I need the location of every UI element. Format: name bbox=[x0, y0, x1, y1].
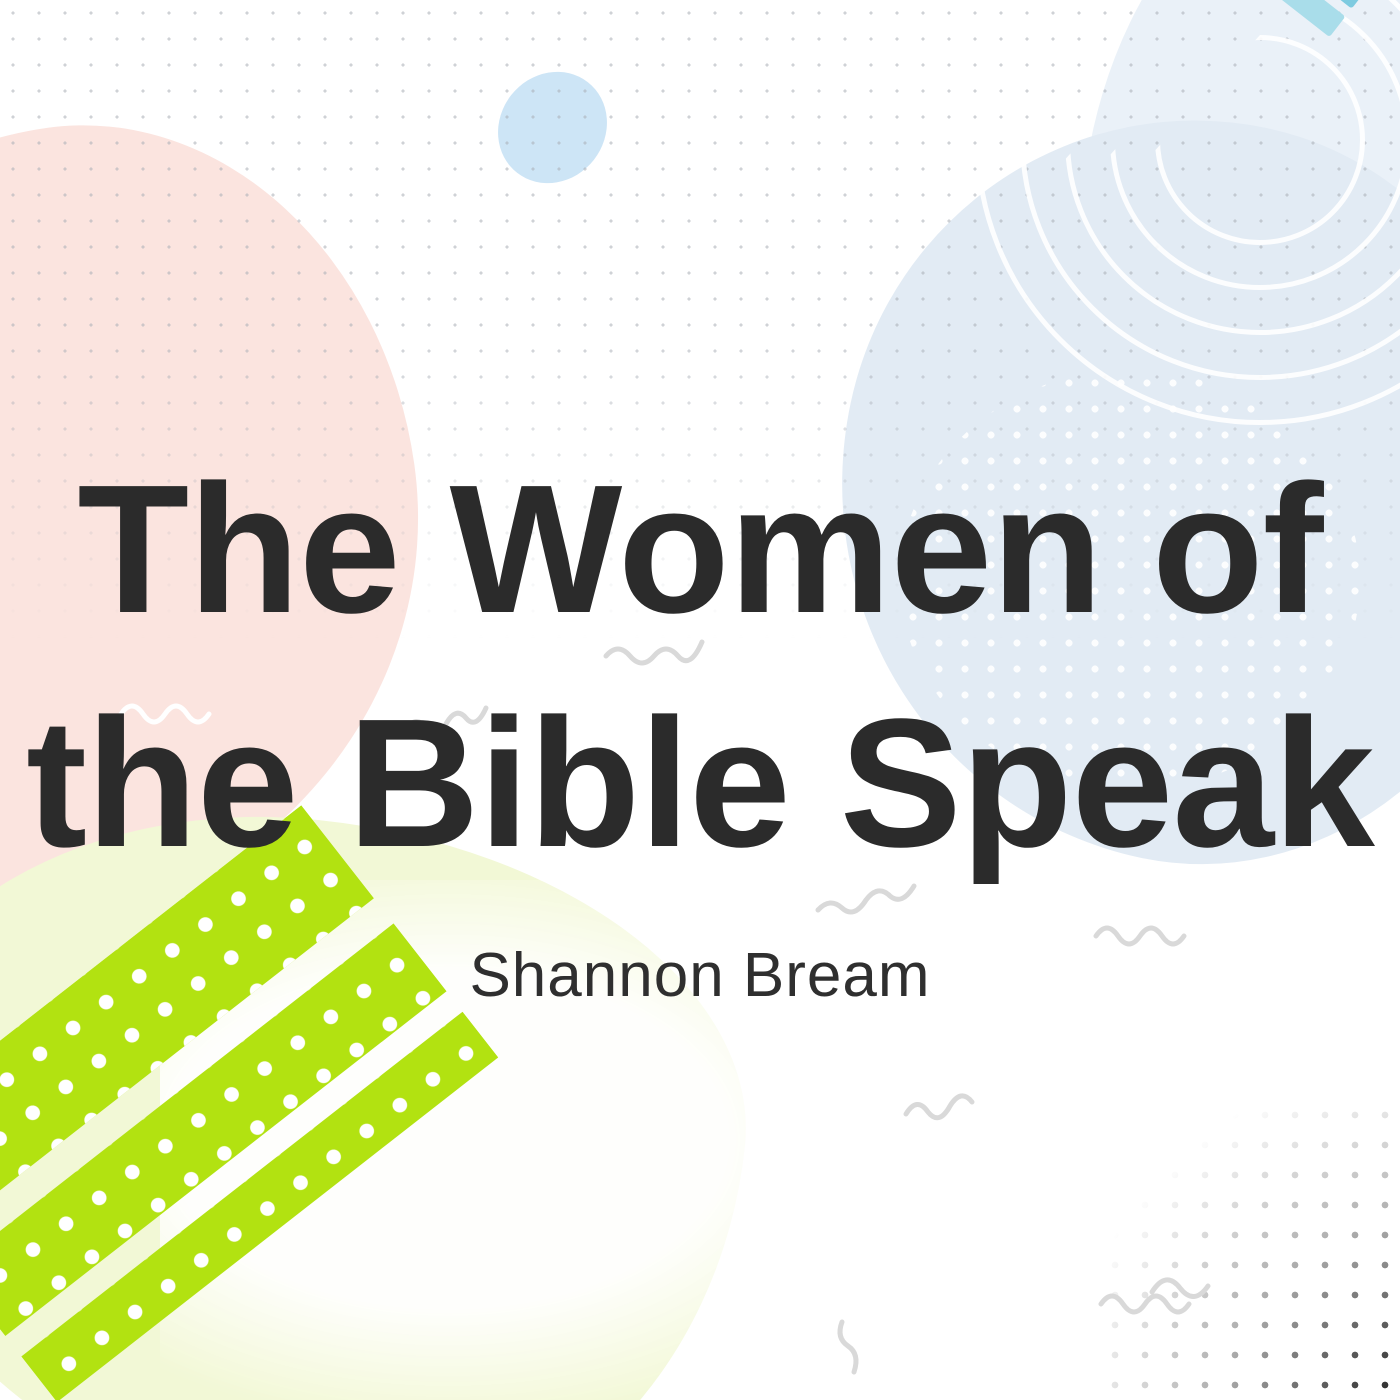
book-title: The Women of the Bible Speak bbox=[0, 432, 1400, 900]
cover-text-layer: The Women of the Bible Speak Shannon Bre… bbox=[0, 0, 1400, 1400]
book-cover: The Women of the Bible Speak Shannon Bre… bbox=[0, 0, 1400, 1400]
book-title-line-2: the Bible Speak bbox=[0, 666, 1400, 900]
book-author: Shannon Bream bbox=[0, 940, 1400, 1011]
book-title-line-1: The Women of bbox=[0, 432, 1400, 666]
